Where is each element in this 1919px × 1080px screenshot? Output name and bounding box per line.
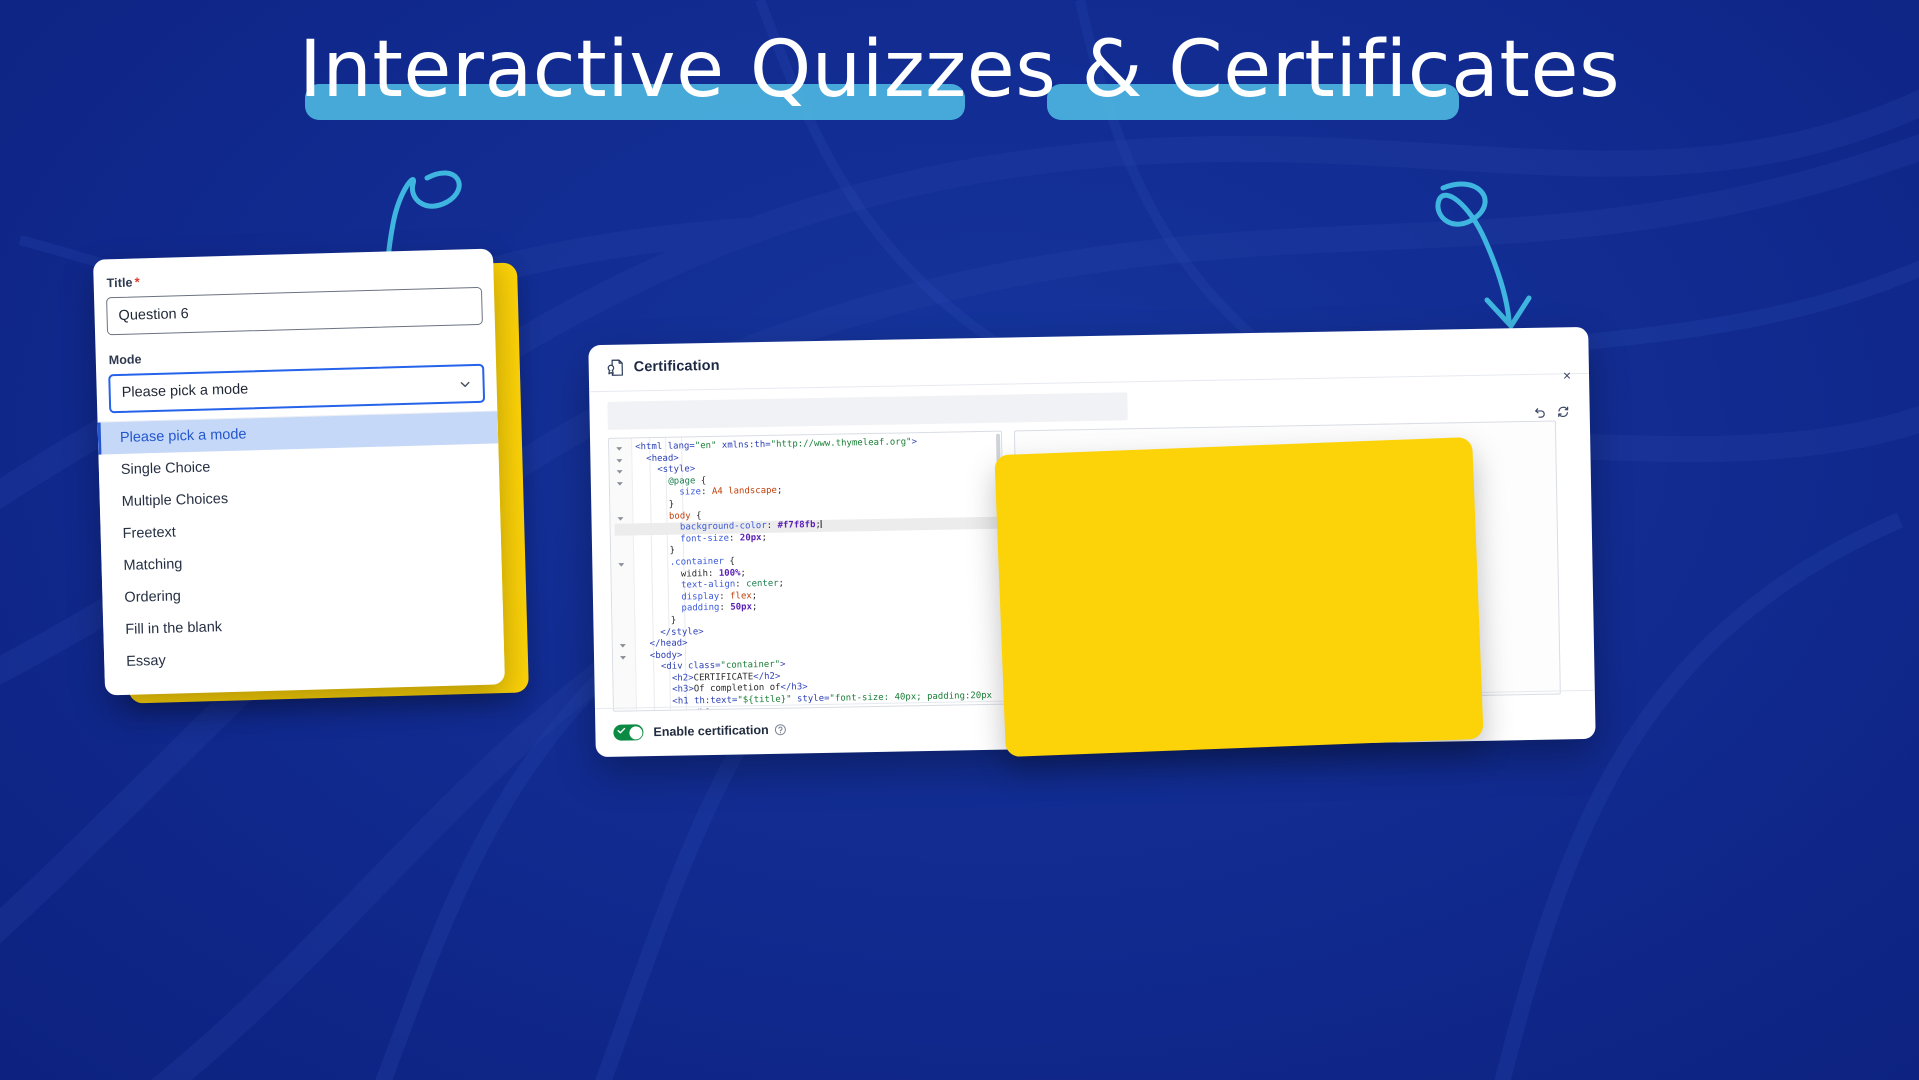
mode-dropdown-list[interactable]: Please pick a mode Single Choice Multipl… xyxy=(98,410,505,678)
certification-window-header: Certification xyxy=(588,327,1589,391)
fold-arrow-icon[interactable] xyxy=(615,445,623,453)
mode-select[interactable]: Please pick a mode xyxy=(108,364,485,413)
required-asterisk: * xyxy=(134,274,140,289)
help-circle-icon[interactable] xyxy=(775,724,787,736)
fold-arrow-icon[interactable] xyxy=(616,514,624,522)
undo-icon[interactable] xyxy=(1534,406,1547,419)
arrow-right-curved xyxy=(1425,180,1555,350)
title-label: Title* xyxy=(106,265,481,290)
certification-window-stack: Certification × xyxy=(592,336,1622,756)
chevron-down-icon xyxy=(459,378,470,389)
title-field-group: Title* Question 6 Mode Please pick a mod… xyxy=(93,264,497,413)
check-icon xyxy=(617,728,625,734)
fold-arrow-icon[interactable] xyxy=(616,479,624,487)
fold-arrow-icon[interactable] xyxy=(619,642,627,650)
certificate-document-icon xyxy=(607,359,625,377)
close-icon[interactable]: × xyxy=(1559,367,1575,383)
enable-certification-toggle[interactable] xyxy=(613,724,643,741)
certificate-preview-yellow-card xyxy=(994,437,1483,757)
mode-select-value: Please pick a mode xyxy=(121,381,248,401)
quiz-question-card: Title* Question 6 Mode Please pick a mod… xyxy=(93,249,505,696)
fold-arrow-icon[interactable] xyxy=(615,456,623,464)
mode-label: Mode xyxy=(109,343,484,367)
toggle-knob xyxy=(629,726,642,739)
refresh-icon[interactable] xyxy=(1557,405,1570,418)
fold-arrow-icon[interactable] xyxy=(616,468,624,476)
certification-window-title: Certification xyxy=(634,358,720,376)
page-title-text: Interactive Quizzes & Certificates xyxy=(299,25,1620,115)
page-title: Interactive Quizzes & Certificates xyxy=(0,22,1919,132)
fold-arrow-icon[interactable] xyxy=(617,561,625,569)
title-input[interactable]: Question 6 xyxy=(106,287,483,335)
title-label-text: Title xyxy=(106,276,132,291)
fold-arrow-icon[interactable] xyxy=(619,653,627,661)
quiz-card-stack: Title* Question 6 Mode Please pick a mod… xyxy=(95,250,515,710)
code-editor-content[interactable]: <html lang="en" xmlns:th="http://www.thy… xyxy=(631,432,1006,711)
code-editor[interactable]: <html lang="en" xmlns:th="http://www.thy… xyxy=(608,431,1007,712)
enable-certification-label: Enable certification xyxy=(653,723,769,739)
editor-action-buttons[interactable] xyxy=(1534,405,1570,419)
